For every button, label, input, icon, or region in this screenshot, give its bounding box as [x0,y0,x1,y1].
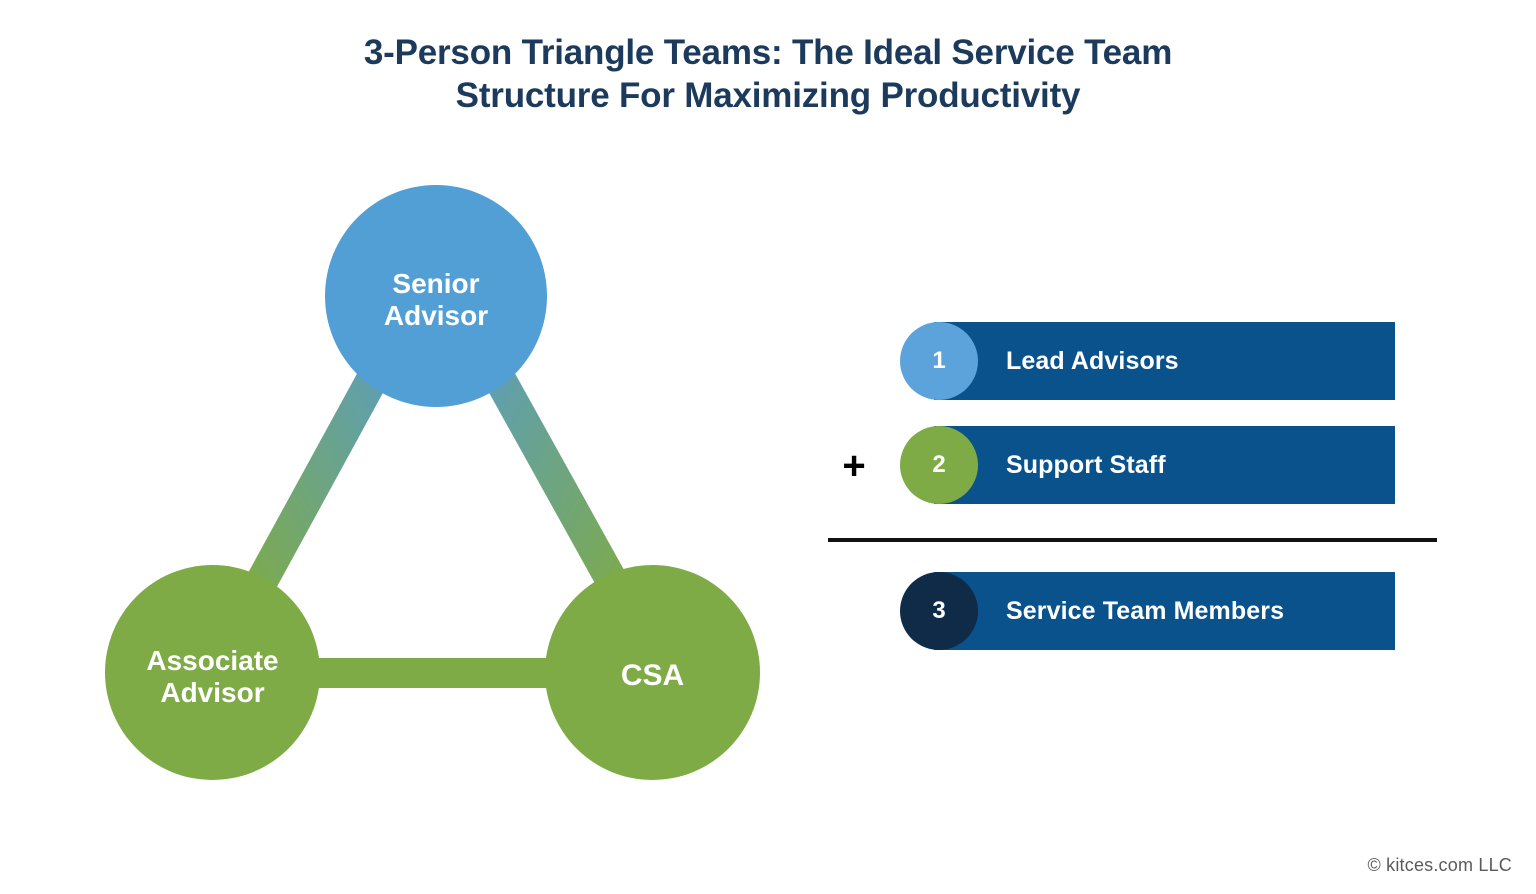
legend-row-service-team-members[interactable]: Service Team Members 3 [900,572,1395,650]
page-title: 3-Person Triangle Teams: The Ideal Servi… [0,32,1536,117]
legend-bar-2: Support Staff [934,426,1395,504]
legend-panel: + Lead Advisors 1 Support Staff 2 Servic… [828,300,1448,680]
legend-label-2: Support Staff [1006,451,1166,480]
plus-icon: + [828,440,880,492]
node-senior-advisor-label: Senior Advisor [384,268,488,332]
legend-row-lead-advisors[interactable]: Lead Advisors 1 [900,322,1395,400]
node-csa-label: CSA [621,659,684,693]
legend-number-badge-3: 3 [900,572,978,650]
node-senior-advisor[interactable]: Senior Advisor [325,185,547,407]
connector-senior-to-csa [492,365,628,610]
copyright-notice: © kitces.com LLC [1367,855,1512,876]
legend-label-1: Lead Advisors [1006,347,1179,376]
legend-number-1: 1 [932,347,945,375]
legend-label-3: Service Team Members [1006,597,1284,626]
node-csa[interactable]: CSA [545,565,760,780]
legend-bar-1: Lead Advisors [934,322,1395,400]
node-associate-advisor-label: Associate Advisor [146,645,278,709]
legend-divider [828,538,1437,542]
legend-number-badge-1: 1 [900,322,978,400]
legend-bar-3: Service Team Members [934,572,1395,650]
legend-row-support-staff[interactable]: Support Staff 2 [900,426,1395,504]
legend-number-3: 3 [932,597,945,625]
triangle-diagram: Senior Advisor Associate Advisor CSA [80,160,800,820]
node-associate-advisor[interactable]: Associate Advisor [105,565,320,780]
legend-number-badge-2: 2 [900,426,978,504]
legend-number-2: 2 [932,451,945,479]
connector-senior-to-associate [246,365,380,610]
